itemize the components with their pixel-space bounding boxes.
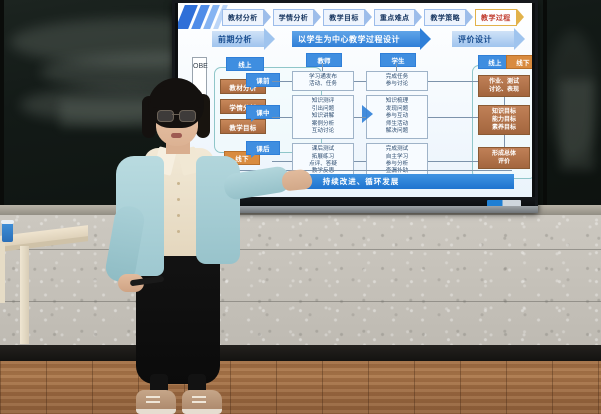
paper-cup	[2, 223, 13, 242]
nav-item-3[interactable]: 重点难点	[374, 9, 416, 26]
connector	[504, 97, 505, 105]
nav-label: 重点难点	[380, 13, 410, 23]
connector	[504, 135, 505, 147]
phase-arrow-label: 前期分析	[218, 34, 252, 45]
phase-arrow-0: 前期分析	[212, 31, 264, 47]
connector	[354, 81, 366, 82]
header-label: 学生	[392, 55, 405, 65]
boot-right	[182, 390, 222, 414]
student-cell-1: 知识梳理 发现问题 参与互动 师生活动 解决问题	[366, 95, 428, 139]
teacher-presenter	[96, 78, 286, 414]
slide-nav-secondary: 前期分析 以学生为中心教学过程设计 评价设计	[212, 31, 526, 49]
nav-item-2[interactable]: 教学目标	[323, 9, 365, 26]
column-header-teacher: 教师	[306, 53, 342, 67]
eyeglass-right-icon	[179, 110, 196, 122]
boot-left	[136, 390, 176, 414]
baseboard	[0, 345, 601, 361]
classroom-scene: 教材分析 学情分析 教学目标 重点难点 教学策略 教学过程 前期分析 以学生为中…	[0, 0, 601, 414]
connector	[428, 161, 478, 162]
paper-cup-lid	[1, 220, 14, 224]
tag-label: 线下	[516, 57, 530, 67]
bottom-banner-label: 持续改进、循环发展	[323, 176, 400, 187]
wood-floor	[0, 361, 601, 414]
nav-item-0[interactable]: 教材分析	[222, 9, 264, 26]
phase-arrow-1: 以学生为中心教学过程设计	[292, 31, 420, 47]
teacher-cell-0: 学习通发布 活动、任务	[292, 71, 354, 91]
nav-label: 教材分析	[228, 13, 258, 23]
phase-arrow-2: 评价设计	[452, 31, 514, 47]
tag-online-left: 线上	[226, 57, 264, 71]
nav-item-4[interactable]: 教学策略	[424, 9, 466, 26]
nav-label: 教学目标	[329, 13, 359, 23]
nav-label: 学情分析	[279, 13, 309, 23]
connector	[396, 63, 397, 71]
phase-arrow-label: 以学生为中心教学过程设计	[298, 34, 400, 45]
slide-nav-primary: 教材分析 学情分析 教学目标 重点难点 教学策略 教学过程	[222, 8, 524, 27]
connector	[354, 161, 366, 162]
right-node-2: 形成总体 评价	[478, 147, 530, 169]
phase-arrow-label: 评价设计	[458, 34, 492, 45]
emphasis-arrow-icon	[362, 105, 373, 123]
eyeglass-bridge	[172, 114, 179, 115]
connector	[428, 117, 478, 118]
nav-label: 教学策略	[430, 13, 460, 23]
connector	[322, 63, 323, 71]
right-node-1: 知识目标 能力目标 素养目标	[478, 105, 530, 135]
student-cell-0: 完成任务 参与讨论	[366, 71, 428, 91]
column-header-student: 学生	[380, 53, 416, 67]
connector	[354, 117, 366, 118]
hand-right	[281, 168, 313, 191]
nav-label: 教学过程	[481, 13, 511, 23]
tag-label: 线上	[238, 59, 252, 69]
nav-item-1[interactable]: 学情分析	[273, 9, 315, 26]
connector	[428, 81, 478, 82]
tag-offline-right: 线下	[506, 55, 532, 69]
wall-panel	[0, 215, 601, 360]
nav-item-5-active[interactable]: 教学过程	[475, 9, 517, 26]
right-node-0: 作业、测试 讨论、表现	[478, 75, 530, 97]
teacher-cell-1: 知识测评 引出问题 知识讲解 案例分析 互动讨论	[292, 95, 354, 139]
cardigan-right	[196, 156, 240, 264]
header-label: 教师	[318, 55, 331, 65]
eyeglass-left-icon	[157, 110, 174, 122]
bangs	[150, 86, 204, 108]
tag-label: 线上	[488, 57, 502, 67]
mouth	[171, 133, 182, 138]
